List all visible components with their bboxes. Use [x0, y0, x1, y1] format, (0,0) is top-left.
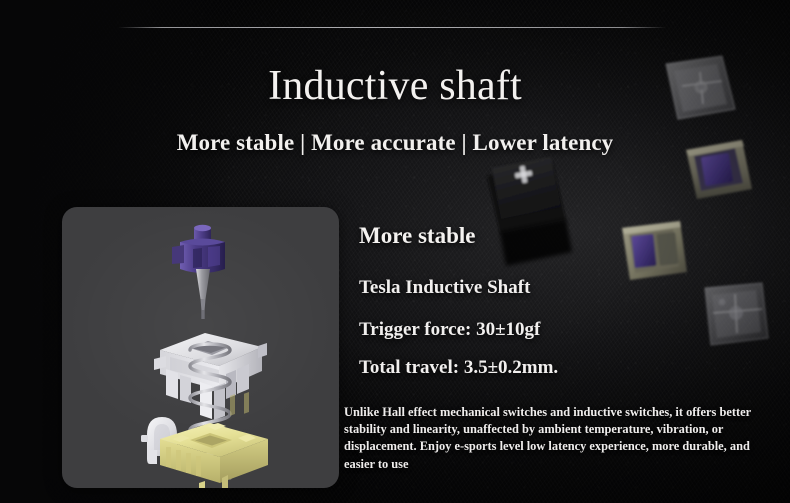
page-subtitle: More stable | More accurate | Lower late… — [0, 128, 790, 158]
exploded-switch-diagram — [62, 207, 339, 488]
spec-line-trigger-force: Trigger force: 30±10gf — [359, 317, 540, 343]
feature-heading: More stable — [359, 221, 475, 251]
spec-line-total-travel: Total travel: 3.5±0.2mm. — [359, 355, 558, 381]
feature-description: Unlike Hall effect mechanical switches a… — [344, 404, 774, 473]
promo-banner: Inductive shaft More stable | More accur… — [0, 0, 790, 503]
spec-line-product-name: Tesla Inductive Shaft — [359, 275, 530, 301]
page-title: Inductive shaft — [0, 61, 790, 111]
product-image-panel — [62, 207, 339, 488]
top-divider — [118, 27, 666, 28]
